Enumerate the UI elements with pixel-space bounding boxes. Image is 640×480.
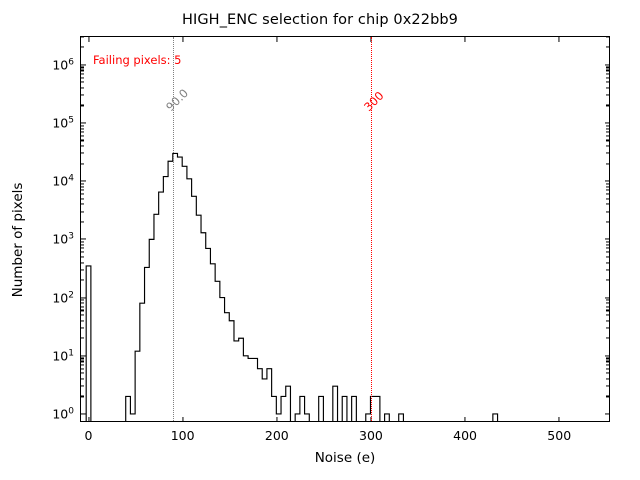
y-axis-minor-tick xyxy=(81,368,84,369)
x-axis-tick-label: 500 xyxy=(547,421,571,443)
y-axis-minor-tick xyxy=(81,252,84,253)
y-axis-minor-tick xyxy=(606,190,609,191)
y-axis-label: Number of pixels xyxy=(10,120,26,360)
x-axis-tick-label: 300 xyxy=(359,421,383,443)
y-axis-minor-tick xyxy=(81,241,84,242)
figure: HIGH_ENC selection for chip 0x22bb9 Numb… xyxy=(0,0,640,480)
y-axis-minor-tick xyxy=(81,315,84,316)
histogram-step xyxy=(352,396,357,421)
histogram-step xyxy=(319,396,324,421)
y-axis-tick-mark xyxy=(81,181,86,182)
y-axis-minor-tick xyxy=(81,70,84,71)
y-axis-minor-tick xyxy=(81,262,84,263)
y-axis-tick-mark xyxy=(81,413,86,414)
y-axis-minor-tick xyxy=(81,256,84,257)
y-axis-minor-tick xyxy=(606,128,609,129)
y-axis-minor-tick xyxy=(606,82,609,83)
y-axis-minor-tick xyxy=(81,198,84,199)
x-axis-tick-label: 0 xyxy=(85,421,93,443)
histogram-step xyxy=(126,153,291,421)
y-axis-minor-tick xyxy=(81,211,84,212)
y-axis-minor-tick xyxy=(81,125,84,126)
y-axis-tick-label: 106 xyxy=(52,57,81,72)
y-axis-minor-tick xyxy=(606,87,609,88)
y-axis-minor-tick xyxy=(81,128,84,129)
x-axis-tick-label: 100 xyxy=(171,421,195,443)
y-axis-minor-tick xyxy=(606,131,609,132)
y-axis-minor-tick xyxy=(606,373,609,374)
y-axis-minor-tick xyxy=(81,95,84,96)
y-axis-minor-tick xyxy=(606,315,609,316)
y-axis-minor-tick xyxy=(81,204,84,205)
y-axis-tick-mark xyxy=(81,239,86,240)
x-axis-tick-mark xyxy=(88,417,89,422)
y-axis-minor-tick xyxy=(81,82,84,83)
histogram-step xyxy=(493,414,498,421)
y-axis-minor-tick xyxy=(81,153,84,154)
y-axis-minor-tick xyxy=(81,386,84,387)
y-axis-minor-tick xyxy=(606,70,609,71)
y-axis-minor-tick xyxy=(81,320,84,321)
y-axis-minor-tick xyxy=(606,204,609,205)
y-axis-minor-tick xyxy=(81,47,84,48)
y-axis-minor-tick xyxy=(606,252,609,253)
chart-title: HIGH_ENC selection for chip 0x22bb9 xyxy=(0,12,640,28)
y-axis-minor-tick xyxy=(81,248,84,249)
y-axis-minor-tick xyxy=(606,77,609,78)
y-axis-minor-tick xyxy=(81,221,84,222)
histogram-step xyxy=(399,414,404,421)
y-axis-minor-tick xyxy=(606,183,609,184)
y-axis-minor-tick xyxy=(606,338,609,339)
y-axis-minor-tick xyxy=(606,269,609,270)
y-axis-minor-tick xyxy=(606,73,609,74)
y-axis-minor-tick xyxy=(606,198,609,199)
y-axis-minor-tick xyxy=(81,105,84,106)
histogram-step xyxy=(385,414,390,421)
y-axis-tick-mark xyxy=(605,181,610,182)
y-axis-tick-label: 100 xyxy=(52,406,81,421)
y-axis-minor-tick xyxy=(606,194,609,195)
histogram-series xyxy=(81,37,609,421)
y-axis-minor-tick xyxy=(606,163,609,164)
y-axis-minor-tick xyxy=(606,36,609,37)
y-axis-minor-tick xyxy=(606,303,609,304)
y-axis-tick-label: 105 xyxy=(52,115,81,130)
y-axis-minor-tick xyxy=(81,67,84,68)
y-axis-minor-tick xyxy=(81,186,84,187)
y-axis-minor-tick xyxy=(606,67,609,68)
histogram-step xyxy=(333,386,338,421)
y-axis-tick-mark xyxy=(605,355,610,356)
y-axis-minor-tick xyxy=(81,269,84,270)
y-axis-minor-tick xyxy=(606,186,609,187)
y-axis-minor-tick xyxy=(81,36,84,37)
y-axis-minor-tick xyxy=(81,373,84,374)
y-axis-minor-tick xyxy=(81,163,84,164)
histogram-step xyxy=(366,396,380,421)
y-axis-minor-tick xyxy=(81,183,84,184)
y-axis-tick-mark xyxy=(605,239,610,240)
y-axis-minor-tick xyxy=(606,105,609,106)
y-axis-minor-tick xyxy=(606,95,609,96)
y-axis-tick-label: 104 xyxy=(52,174,81,189)
y-axis-minor-tick xyxy=(81,303,84,304)
histogram-clip xyxy=(81,37,609,421)
y-axis-minor-tick xyxy=(81,77,84,78)
y-axis-tick-mark xyxy=(81,64,86,65)
y-axis-tick-mark xyxy=(605,122,610,123)
y-axis-minor-tick xyxy=(81,131,84,132)
y-axis-minor-tick xyxy=(81,364,84,365)
y-axis-minor-tick xyxy=(606,135,609,136)
y-axis-minor-tick xyxy=(606,125,609,126)
y-axis-minor-tick xyxy=(81,194,84,195)
y-axis-minor-tick xyxy=(606,256,609,257)
y-axis-tick-mark xyxy=(605,413,610,414)
y-axis-minor-tick xyxy=(81,146,84,147)
histogram-step xyxy=(295,396,309,421)
y-axis-minor-tick xyxy=(606,221,609,222)
y-axis-minor-tick xyxy=(81,378,84,379)
y-axis-minor-tick xyxy=(606,262,609,263)
y-axis-minor-tick xyxy=(606,241,609,242)
y-axis-minor-tick xyxy=(606,306,609,307)
x-axis-tick-mark xyxy=(88,37,89,42)
x-axis-tick-mark xyxy=(276,417,277,422)
x-axis-tick-mark xyxy=(182,37,183,42)
y-axis-minor-tick xyxy=(606,244,609,245)
y-axis-minor-tick xyxy=(606,300,609,301)
x-axis-tick-mark xyxy=(465,417,466,422)
y-axis-minor-tick xyxy=(81,310,84,311)
histogram-step xyxy=(86,266,91,421)
y-axis-minor-tick xyxy=(606,280,609,281)
x-axis-label: Noise (e) xyxy=(80,450,610,466)
y-axis-minor-tick xyxy=(606,327,609,328)
y-axis-minor-tick xyxy=(606,358,609,359)
y-axis-minor-tick xyxy=(606,248,609,249)
y-axis-minor-tick xyxy=(81,338,84,339)
y-axis-minor-tick xyxy=(606,47,609,48)
y-axis-minor-tick xyxy=(81,300,84,301)
x-axis-tick-mark xyxy=(276,37,277,42)
y-axis-minor-tick xyxy=(606,320,609,321)
y-axis-minor-tick xyxy=(606,140,609,141)
y-axis-tick-label: 101 xyxy=(52,348,81,363)
y-axis-minor-tick xyxy=(606,364,609,365)
y-axis-minor-tick xyxy=(81,87,84,88)
x-axis-tick-mark xyxy=(182,417,183,422)
y-axis-minor-tick xyxy=(81,244,84,245)
x-axis-tick-mark xyxy=(465,37,466,42)
y-axis-tick-mark xyxy=(605,64,610,65)
y-axis-tick-mark xyxy=(81,122,86,123)
x-axis-tick-mark xyxy=(559,417,560,422)
plot-area: 1001011021031041051060100200300400500 xyxy=(80,36,610,422)
y-axis-tick-mark xyxy=(81,355,86,356)
y-axis-tick-label: 102 xyxy=(52,290,81,305)
y-axis-minor-tick xyxy=(606,361,609,362)
failing-pixels-annotation: Failing pixels: 5 xyxy=(93,53,182,67)
y-axis-minor-tick xyxy=(81,358,84,359)
y-axis-minor-tick xyxy=(81,361,84,362)
y-axis-minor-tick xyxy=(606,378,609,379)
y-axis-tick-mark xyxy=(605,297,610,298)
y-axis-minor-tick xyxy=(606,368,609,369)
y-axis-minor-tick xyxy=(81,73,84,74)
x-axis-tick-label: 400 xyxy=(453,421,477,443)
y-axis-minor-tick xyxy=(606,386,609,387)
y-axis-minor-tick xyxy=(81,135,84,136)
y-axis-minor-tick xyxy=(81,190,84,191)
y-axis-minor-tick xyxy=(81,396,84,397)
y-axis-minor-tick xyxy=(81,280,84,281)
y-axis-minor-tick xyxy=(606,153,609,154)
x-axis-tick-mark xyxy=(559,37,560,42)
y-axis-minor-tick xyxy=(606,396,609,397)
y-axis-minor-tick xyxy=(606,310,609,311)
y-axis-tick-label: 103 xyxy=(52,232,81,247)
y-axis-minor-tick xyxy=(81,327,84,328)
histogram-step xyxy=(342,396,347,421)
y-axis-minor-tick xyxy=(81,140,84,141)
x-axis-tick-label: 200 xyxy=(265,421,289,443)
y-axis-tick-mark xyxy=(81,297,86,298)
y-axis-minor-tick xyxy=(606,211,609,212)
y-axis-minor-tick xyxy=(81,306,84,307)
y-axis-minor-tick xyxy=(606,146,609,147)
